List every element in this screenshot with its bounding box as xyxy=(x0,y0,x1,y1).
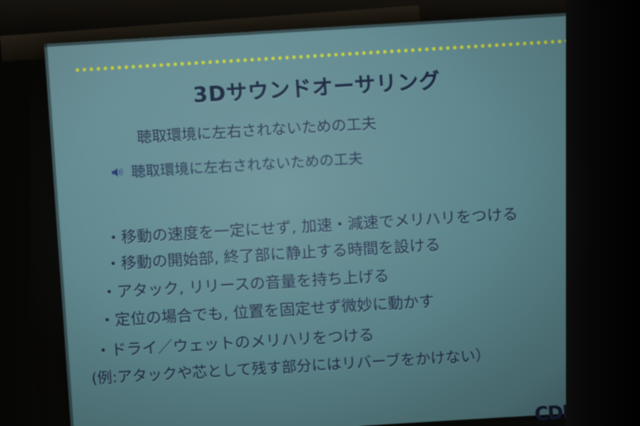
room-wall-right xyxy=(566,0,640,426)
slide-subtitle: 聴取環境に左右されないための工夫 xyxy=(136,112,377,147)
icon-bullet-label: 聴取環境に左右されないための工夫 xyxy=(130,147,363,182)
projection-screen: 3Dサウンドオーサリング 聴取環境に左右されないための工夫 聴取環境に左右されな… xyxy=(44,12,609,426)
icon-bullet: 聴取環境に左右されないための工夫 xyxy=(110,147,363,183)
slide-surface: 3Dサウンドオーサリング 聴取環境に左右されないための工夫 聴取環境に左右されな… xyxy=(44,12,609,426)
speaker-icon xyxy=(111,165,125,179)
photo-scene: 3Dサウンドオーサリング 聴取環境に左右されないための工夫 聴取環境に左右されな… xyxy=(0,0,640,426)
